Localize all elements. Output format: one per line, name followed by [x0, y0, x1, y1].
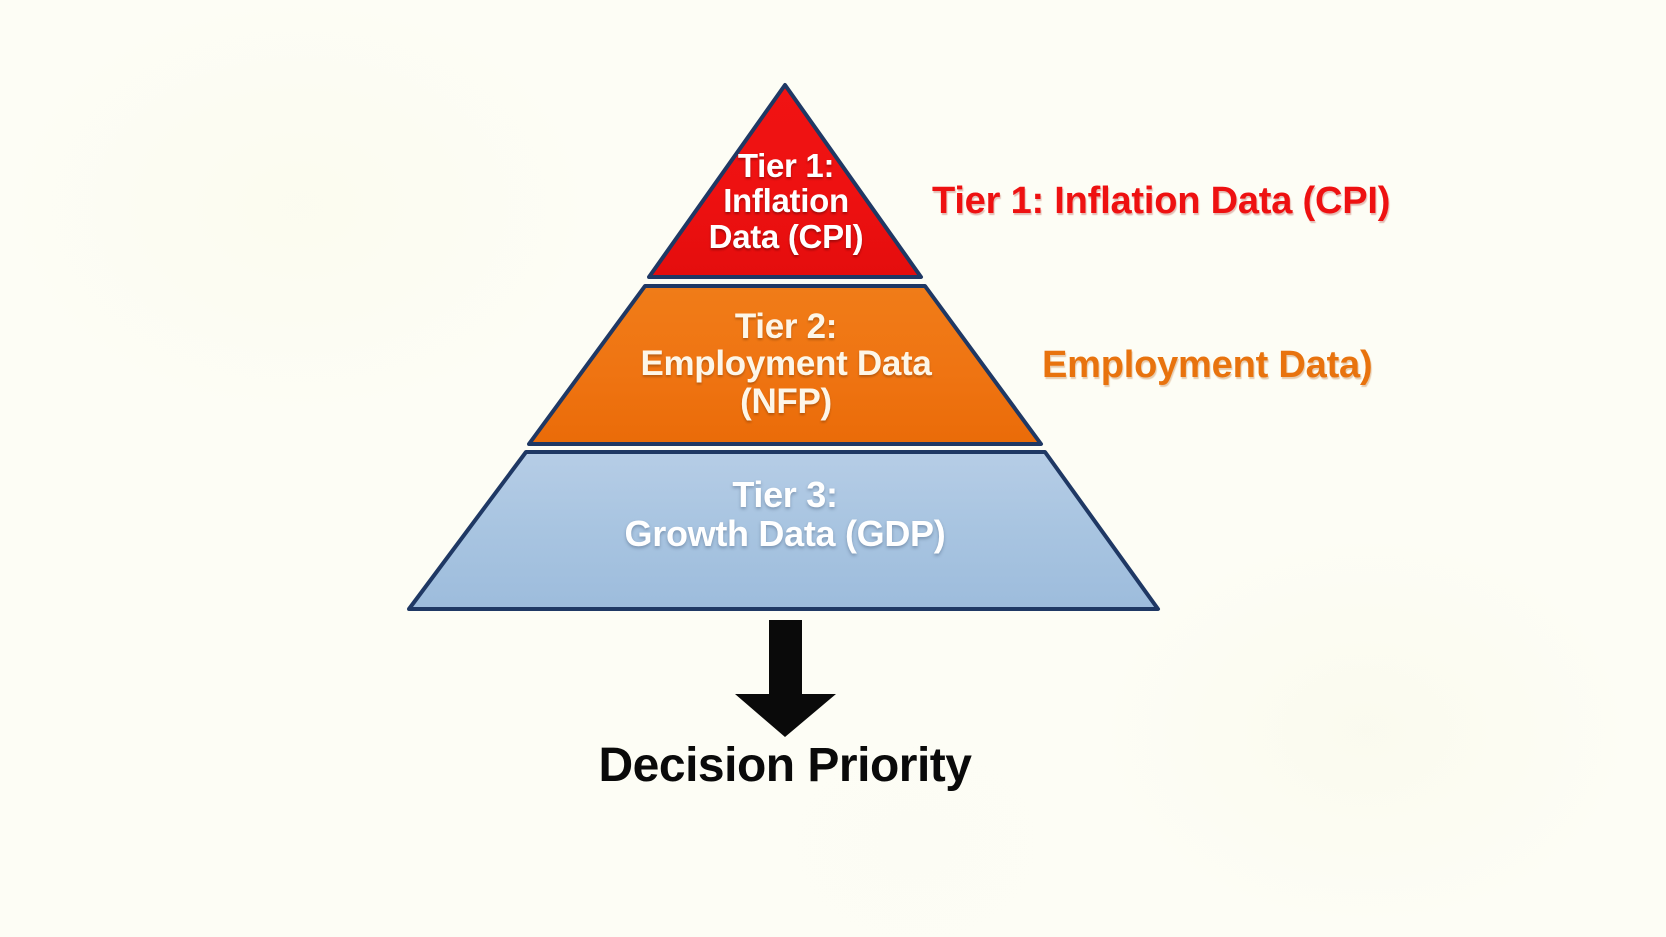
diagram-canvas: Tier 1: Inflation Data (CPI) Tier 2: Emp…: [0, 0, 1666, 937]
pyramid-graphic: [0, 0, 1666, 937]
pyramid-tier-2-shape[interactable]: [529, 286, 1041, 444]
side-label-tier-2: Employment Data): [1042, 344, 1372, 387]
downward-arrow-icon: [735, 620, 836, 737]
pyramid-tier-3-shape[interactable]: [409, 452, 1158, 609]
decision-priority-caption: Decision Priority: [0, 738, 1570, 793]
pyramid-tier-1-shape[interactable]: [649, 85, 921, 277]
side-label-tier-1: Tier 1: Inflation Data (CPI): [932, 180, 1390, 223]
